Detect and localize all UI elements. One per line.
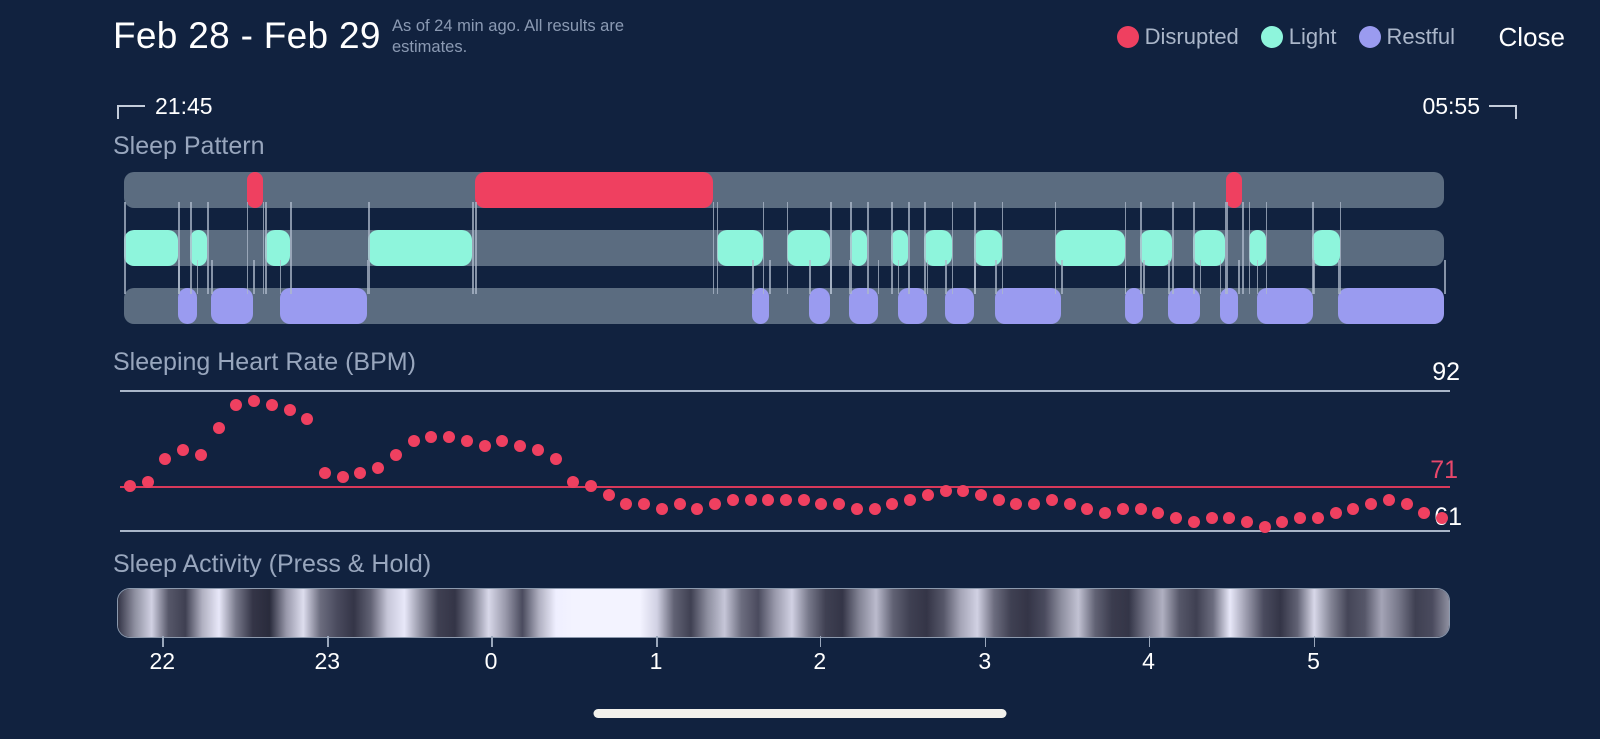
sleep-activity-label: Sleep Activity (Press & Hold) xyxy=(113,550,431,579)
sleep-segment-restful xyxy=(945,288,974,324)
hr-data-point xyxy=(1206,512,1218,524)
sleep-segment-restful xyxy=(1168,288,1200,324)
sleep-segment-disrupted xyxy=(1226,172,1242,208)
hr-data-point xyxy=(869,503,881,515)
hr-data-point xyxy=(691,503,703,515)
sleep-segment-light xyxy=(924,230,952,266)
hr-data-point xyxy=(762,494,774,506)
hr-data-point xyxy=(780,494,792,506)
bracket-end-icon xyxy=(1489,105,1517,119)
hr-data-point xyxy=(1436,512,1448,524)
hr-data-point xyxy=(461,435,473,447)
hr-data-point xyxy=(957,485,969,497)
axis-tick-label: 1 xyxy=(650,648,663,675)
hr-data-point xyxy=(638,498,650,510)
hr-data-point xyxy=(1418,507,1430,519)
hr-data-point xyxy=(337,471,349,483)
sleep-segment-light xyxy=(1249,230,1266,266)
axis-tick-label: 3 xyxy=(978,648,991,675)
legend-label: Light xyxy=(1289,24,1337,50)
hr-data-point xyxy=(1064,498,1076,510)
sleep-segment-light xyxy=(1055,230,1125,266)
hr-data-point xyxy=(354,467,366,479)
hr-data-point xyxy=(301,413,313,425)
hr-data-point xyxy=(514,440,526,452)
sleep-segment-restful xyxy=(995,288,1061,324)
hr-data-point xyxy=(1365,498,1377,510)
hr-data-point xyxy=(124,480,136,492)
page-subtitle: As of 24 min ago. All results are estima… xyxy=(392,16,672,58)
axis-tick-label: 2 xyxy=(813,648,826,675)
heart-rate-label: Sleeping Heart Rate (BPM) xyxy=(113,348,416,377)
sleep-end-time: 05:55 xyxy=(1422,93,1480,120)
hr-data-point xyxy=(656,503,668,515)
heart-rate-chart[interactable]: 92 71 61 xyxy=(120,382,1450,538)
sleep-segment-light xyxy=(891,230,908,266)
bracket-start-icon xyxy=(117,105,145,119)
legend: DisruptedLightRestful xyxy=(1095,24,1455,50)
hr-data-point xyxy=(886,498,898,510)
hr-data-point xyxy=(940,485,952,497)
sleep-segment-light xyxy=(787,230,831,266)
hr-avg-line xyxy=(120,486,1450,488)
hr-data-point xyxy=(443,431,455,443)
sleep-start-time: 21:45 xyxy=(155,93,213,120)
page-title: Feb 28 - Feb 29 xyxy=(113,15,381,57)
hr-data-point xyxy=(1028,498,1040,510)
sleep-segment-restful xyxy=(1220,288,1238,324)
sleep-segment-restful xyxy=(1257,288,1314,324)
hr-data-point xyxy=(390,449,402,461)
hr-data-point xyxy=(1010,498,1022,510)
hr-data-point xyxy=(266,399,278,411)
hr-data-point xyxy=(1099,507,1111,519)
hr-data-point xyxy=(1294,512,1306,524)
hr-data-point xyxy=(1117,503,1129,515)
hr-data-point xyxy=(425,431,437,443)
hr-data-point xyxy=(975,489,987,501)
track-disrupted xyxy=(124,172,1444,208)
sleep-segment-light xyxy=(190,230,207,266)
hr-data-point xyxy=(1401,498,1413,510)
axis-tick-label: 5 xyxy=(1307,648,1320,675)
hr-data-point xyxy=(1241,516,1253,528)
hr-data-point xyxy=(745,494,757,506)
sleep-segment-light xyxy=(1140,230,1172,266)
legend-item-light: Light xyxy=(1261,24,1337,50)
hr-data-point xyxy=(230,399,242,411)
axis-tick-label: 0 xyxy=(485,648,498,675)
hr-data-point xyxy=(319,467,331,479)
legend-dot-icon xyxy=(1359,26,1381,48)
close-button[interactable]: Close xyxy=(1499,22,1565,53)
hr-data-point xyxy=(1188,516,1200,528)
hr-data-point xyxy=(709,498,721,510)
hr-data-point xyxy=(1276,516,1288,528)
hr-data-point xyxy=(1152,507,1164,519)
hr-data-point xyxy=(479,440,491,452)
hr-max-value: 92 xyxy=(1432,358,1460,387)
axis-tick-label: 23 xyxy=(315,648,341,675)
hr-data-point xyxy=(567,476,579,488)
sleep-segment-disrupted xyxy=(247,172,263,208)
hr-data-point xyxy=(1347,503,1359,515)
sleep-pattern-label: Sleep Pattern xyxy=(113,132,265,161)
hr-data-point xyxy=(674,498,686,510)
sleep-segment-restful xyxy=(898,288,927,324)
header: Feb 28 - Feb 29 As of 24 min ago. All re… xyxy=(0,0,1600,78)
sleep-segment-light xyxy=(1312,230,1340,266)
axis-tick-label: 4 xyxy=(1142,648,1155,675)
sleep-segment-light xyxy=(1193,230,1225,266)
hr-data-point xyxy=(159,453,171,465)
hr-data-point xyxy=(248,395,260,407)
time-axis: 2223012345 xyxy=(0,636,1600,682)
legend-dot-icon xyxy=(1261,26,1283,48)
hr-data-point xyxy=(1170,512,1182,524)
hr-data-point xyxy=(585,480,597,492)
sleep-segment-restful xyxy=(280,288,367,324)
sleep-segment-light xyxy=(974,230,1002,266)
hr-data-point xyxy=(532,444,544,456)
axis-tick xyxy=(656,636,658,647)
hr-data-point xyxy=(142,476,154,488)
sleep-segment-light xyxy=(717,230,763,266)
sleep-segment-restful xyxy=(1338,288,1444,324)
hr-data-point xyxy=(1046,494,1058,506)
track-restful xyxy=(124,288,1444,324)
sleep-segment-restful xyxy=(809,288,830,324)
hr-data-point xyxy=(1223,512,1235,524)
legend-label: Disrupted xyxy=(1145,24,1239,50)
hr-max-line xyxy=(120,390,1450,392)
legend-item-restful: Restful xyxy=(1359,24,1455,50)
hr-data-point xyxy=(550,453,562,465)
home-indicator[interactable] xyxy=(594,709,1007,718)
sleep-segment-restful xyxy=(178,288,196,324)
sleep-segment-restful xyxy=(752,288,769,324)
axis-tick xyxy=(985,636,987,647)
hr-data-point xyxy=(1383,494,1395,506)
sleep-segment-disrupted xyxy=(475,172,713,208)
activity-intensity-band xyxy=(118,589,1449,637)
hr-data-point xyxy=(727,494,739,506)
time-range-row: 21:45 05:55 xyxy=(0,88,1600,128)
sleep-pattern-chart[interactable] xyxy=(124,172,1444,324)
sleep-segment-light xyxy=(368,230,472,266)
axis-tick-label: 22 xyxy=(149,648,175,675)
hr-data-point xyxy=(408,435,420,447)
hr-data-point xyxy=(798,494,810,506)
hr-data-point xyxy=(284,404,296,416)
hr-data-point xyxy=(904,494,916,506)
axis-tick xyxy=(820,636,822,647)
hr-data-point xyxy=(603,489,615,501)
hr-data-point xyxy=(496,435,508,447)
sleep-segment-restful xyxy=(849,288,878,324)
hr-data-point xyxy=(177,444,189,456)
legend-dot-icon xyxy=(1117,26,1139,48)
sleep-segment-light xyxy=(124,230,178,266)
hr-data-point xyxy=(1135,503,1147,515)
axis-tick xyxy=(1314,636,1316,647)
hr-data-point xyxy=(833,498,845,510)
hr-data-point xyxy=(851,503,863,515)
hr-data-point xyxy=(1259,521,1271,533)
hr-data-point xyxy=(372,462,384,474)
sleep-segment-restful xyxy=(211,288,253,324)
hr-data-point xyxy=(213,422,225,434)
sleep-activity-chart[interactable] xyxy=(117,588,1450,638)
sleep-segment-light xyxy=(265,230,290,266)
sleep-segment-restful xyxy=(1125,288,1143,324)
hr-data-point xyxy=(195,449,207,461)
sleep-segment-light xyxy=(850,230,867,266)
track-light xyxy=(124,230,1444,266)
hr-data-point xyxy=(1330,507,1342,519)
axis-tick xyxy=(491,636,493,647)
hr-avg-value: 71 xyxy=(1430,456,1458,485)
axis-tick xyxy=(327,636,329,647)
hr-min-line xyxy=(120,530,1450,532)
hr-data-point xyxy=(620,498,632,510)
sleep-detail-screen: Feb 28 - Feb 29 As of 24 min ago. All re… xyxy=(0,0,1600,739)
axis-tick xyxy=(162,636,164,647)
hr-data-point xyxy=(1312,512,1324,524)
axis-tick xyxy=(1149,636,1151,647)
hr-data-point xyxy=(815,498,827,510)
hr-data-point xyxy=(922,489,934,501)
hr-data-point xyxy=(993,494,1005,506)
legend-item-disrupted: Disrupted xyxy=(1117,24,1239,50)
legend-label: Restful xyxy=(1387,24,1455,50)
connector-line xyxy=(1444,260,1446,294)
hr-data-point xyxy=(1081,503,1093,515)
